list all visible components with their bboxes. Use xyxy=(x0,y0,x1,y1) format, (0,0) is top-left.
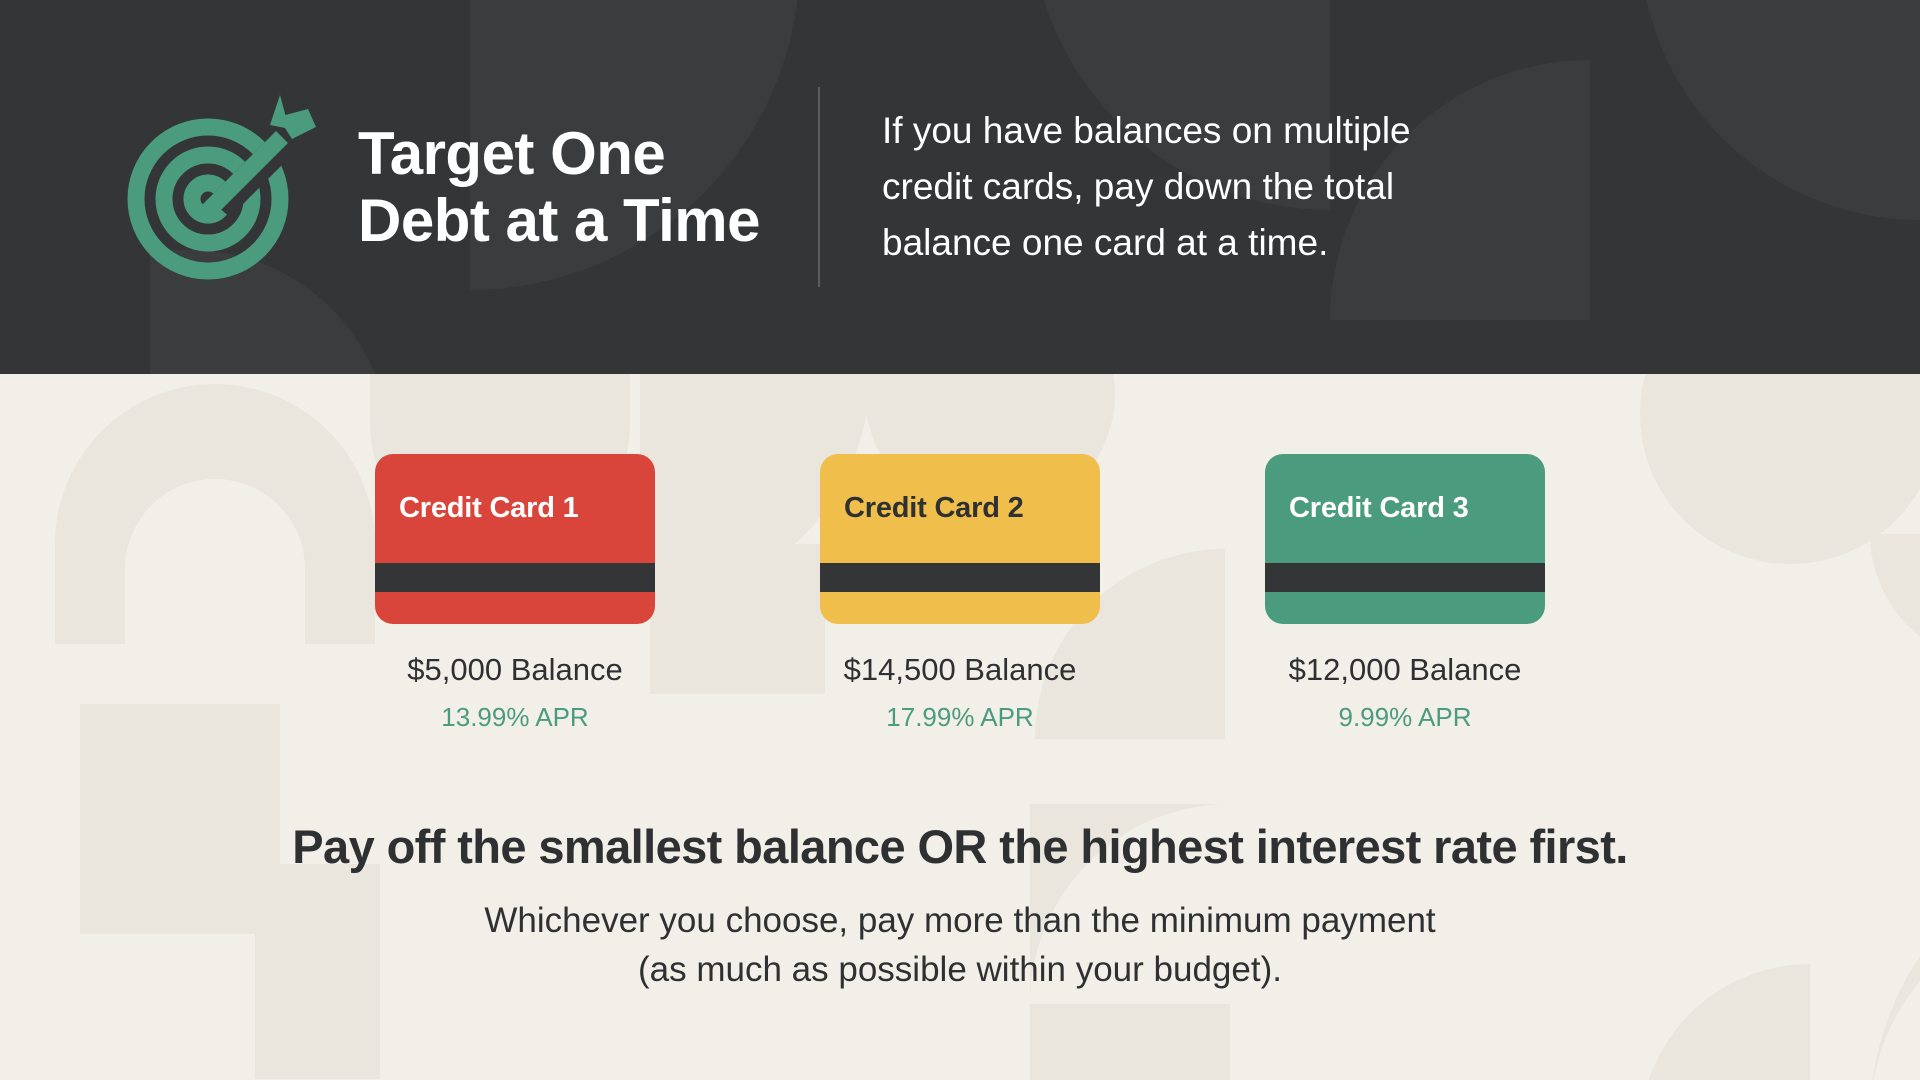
magnetic-stripe-1 xyxy=(375,563,655,592)
credit-card-lower-1 xyxy=(375,592,655,624)
main-content: Credit Card 1 $5,000 Balance 13.99% APR … xyxy=(0,374,1920,1080)
header-subtitle-line-2: credit cards, pay down the total xyxy=(882,159,1411,215)
credit-card-balance-2: $14,500 Balance xyxy=(844,652,1077,688)
credit-card-label-2: Credit Card 2 xyxy=(844,492,1024,525)
credit-card-label-1: Credit Card 1 xyxy=(399,492,579,525)
credit-card-label-3: Credit Card 3 xyxy=(1289,492,1469,525)
credit-card-item-3: Credit Card 3 $12,000 Balance 9.99% APR xyxy=(1265,454,1545,733)
credit-card-apr-1: 13.99% APR xyxy=(441,702,588,733)
credit-card-face-2: Credit Card 2 xyxy=(820,454,1100,563)
credit-card-graphic-2: Credit Card 2 xyxy=(820,454,1100,624)
header-subtitle-line-1: If you have balances on multiple xyxy=(882,103,1411,159)
credit-card-graphic-3: Credit Card 3 xyxy=(1265,454,1545,624)
credit-card-item-2: Credit Card 2 $14,500 Balance 17.99% APR xyxy=(820,454,1100,733)
header-banner: Target One Debt at a Time If you have ba… xyxy=(0,0,1920,374)
header-vertical-divider xyxy=(818,87,820,287)
footer-subline-2: (as much as possible within your budget)… xyxy=(0,946,1920,994)
credit-card-face-1: Credit Card 1 xyxy=(375,454,655,563)
credit-card-balance-1: $5,000 Balance xyxy=(407,652,622,688)
credit-cards-row: Credit Card 1 $5,000 Balance 13.99% APR … xyxy=(0,374,1920,733)
credit-card-balance-3: $12,000 Balance xyxy=(1289,652,1522,688)
header-subtitle: If you have balances on multiple credit … xyxy=(882,103,1411,272)
footer-text-block: Pay off the smallest balance OR the high… xyxy=(0,819,1920,994)
credit-card-graphic-1: Credit Card 1 xyxy=(375,454,655,624)
page-title-line-2: Debt at a Time xyxy=(358,187,760,254)
target-with-arrow-icon xyxy=(120,87,320,287)
credit-card-lower-2 xyxy=(820,592,1100,624)
footer-headline: Pay off the smallest balance OR the high… xyxy=(0,819,1920,875)
header-subtitle-line-3: balance one card at a time. xyxy=(882,215,1411,271)
credit-card-face-3: Credit Card 3 xyxy=(1265,454,1545,563)
credit-card-lower-3 xyxy=(1265,592,1545,624)
page-title-line-1: Target One xyxy=(358,120,760,187)
magnetic-stripe-2 xyxy=(820,563,1100,592)
credit-card-apr-2: 17.99% APR xyxy=(886,702,1033,733)
credit-card-item-1: Credit Card 1 $5,000 Balance 13.99% APR xyxy=(375,454,655,733)
magnetic-stripe-3 xyxy=(1265,563,1545,592)
credit-card-apr-3: 9.99% APR xyxy=(1339,702,1472,733)
header-title-block: Target One Debt at a Time xyxy=(358,120,760,254)
footer-subline-1: Whichever you choose, pay more than the … xyxy=(0,897,1920,945)
